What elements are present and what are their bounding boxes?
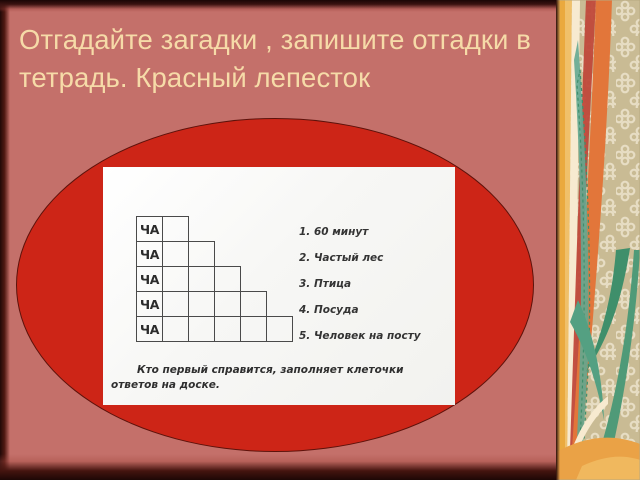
background-top-vignette (0, 0, 556, 12)
grid-cell-empty (162, 291, 189, 317)
table-row: ЧА (137, 291, 293, 317)
list-item: 1. 60 минут (299, 219, 449, 245)
grid-cell-empty (188, 316, 215, 342)
slide-canvas: Отгадайте загадки , запишите отгадки в т… (0, 0, 640, 480)
floral-ribbon-border (556, 0, 640, 480)
grid-cell-label: ЧА (136, 316, 163, 342)
grid-cell-empty (214, 266, 241, 292)
background-left-vignette (0, 0, 10, 480)
grid-cell-empty (162, 241, 189, 267)
grid-cell-empty (240, 291, 267, 317)
page-title: Отгадайте загадки , запишите отгадки в т… (19, 21, 539, 97)
worksheet-caption: Кто первый справится, заполняет клеточки… (111, 363, 447, 393)
grid-cell-empty (214, 291, 241, 317)
background-bottom-vignette (0, 454, 556, 480)
table-row: ЧА (137, 216, 293, 242)
table-row: ЧА (137, 266, 293, 292)
grid-cell-empty (162, 266, 189, 292)
grid-cell-empty (162, 216, 189, 242)
list-item: 4. Посуда (299, 297, 449, 323)
list-item: 5. Человек на посту (299, 323, 449, 349)
grid-cell-label: ЧА (136, 291, 163, 317)
list-item: 2. Частый лес (299, 245, 449, 271)
grid-cell-empty (214, 316, 241, 342)
panel-edge-shadow (556, 0, 560, 480)
scanned-worksheet-image: ЧА ЧА ЧА ЧА (103, 167, 455, 405)
grid-cell-label: ЧА (136, 241, 163, 267)
grid-cell-empty (188, 266, 215, 292)
grid-cell-empty (162, 316, 189, 342)
grid-cell-label: ЧА (136, 266, 163, 292)
staircase-answer-grid: ЧА ЧА ЧА ЧА (137, 217, 293, 342)
grid-cell-empty (266, 316, 293, 342)
riddle-answers-list: 1. 60 минут 2. Частый лес 3. Птица 4. По… (299, 219, 449, 349)
grid-cell-empty (188, 241, 215, 267)
decorative-border-graphic (556, 0, 640, 480)
table-row: ЧА (137, 316, 293, 342)
grid-cell-label: ЧА (136, 216, 163, 242)
list-item: 3. Птица (299, 271, 449, 297)
table-row: ЧА (137, 241, 293, 267)
grid-cell-empty (240, 316, 267, 342)
grid-cell-empty (188, 291, 215, 317)
